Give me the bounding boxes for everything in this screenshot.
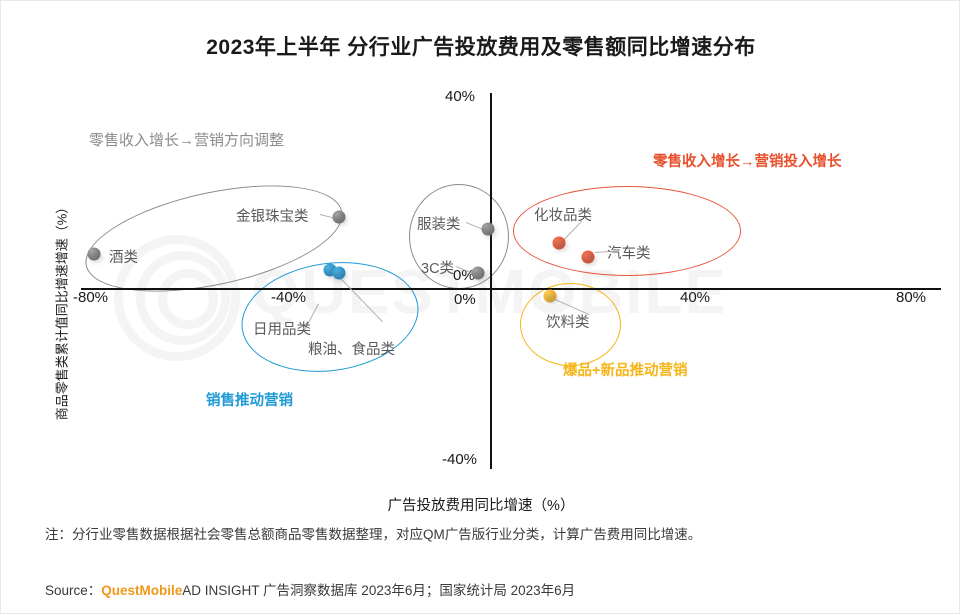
data-point-beverage[interactable] — [544, 290, 557, 303]
data-label-grain-food: 粮油、食品类 — [308, 338, 395, 359]
quadrant-caption-bottom-left: 销售推动营销 — [206, 389, 293, 410]
data-label-automobile: 汽车类 — [607, 242, 651, 263]
data-point-3c[interactable] — [472, 267, 485, 280]
data-point-liquor[interactable] — [88, 248, 101, 261]
data-point-automobile[interactable] — [582, 251, 595, 264]
source-prefix: Source： — [45, 583, 101, 598]
leader-line-cosmetic — [562, 221, 582, 242]
x-axis-line — [81, 288, 941, 290]
x-axis-title: 广告投放费用同比增速（%） — [1, 494, 960, 515]
data-point-grain-food[interactable] — [333, 267, 346, 280]
group-ellipse-marketing-growth — [513, 186, 741, 276]
x-tick-zero: 0% — [454, 291, 476, 308]
watermark: QUESTMOBILE — [106, 229, 906, 349]
data-label-jewelry: 金银珠宝类 — [236, 205, 309, 226]
source-brand: QuestMobile — [101, 583, 182, 598]
y-axis-line — [490, 93, 492, 469]
chart-page: 2023年上半年 分行业广告投放费用及零售额同比增速分布 QUESTMOBILE… — [0, 0, 960, 614]
group-ellipse-new-product — [520, 283, 621, 366]
page-title: 2023年上半年 分行业广告投放费用及零售额同比增速分布 — [1, 31, 960, 61]
group-ellipse-sales-driven — [234, 251, 425, 383]
quadrant-caption-bottom-right: 爆品+新品推动营销 — [563, 359, 687, 380]
data-label-beverage: 饮料类 — [546, 311, 590, 332]
leader-line-beverage — [553, 298, 590, 315]
y-tick-minus40: -40% — [442, 451, 477, 468]
leader-line-apparel — [466, 222, 485, 230]
leader-line-daily — [304, 304, 319, 331]
leader-line-jewelry — [320, 214, 342, 220]
x-tick-minus40: -40% — [271, 289, 306, 306]
watermark-ring-outer — [114, 235, 240, 361]
leader-line-3c — [456, 266, 475, 274]
x-tick-40: 40% — [680, 289, 710, 306]
x-tick-minus80: -80% — [73, 289, 108, 306]
group-ellipse-marketing-redirect — [76, 166, 352, 311]
source-line: Source：QuestMobileAD INSIGHT 广告洞察数据库 202… — [45, 579, 575, 599]
data-point-cosmetics[interactable] — [553, 237, 566, 250]
quadrant-caption-top-left: 零售收入增长→营销方向调整 — [89, 129, 284, 150]
data-label-3c: 3C类 — [421, 257, 454, 278]
watermark-ring-middle — [136, 251, 230, 345]
x-tick-80: 80% — [896, 289, 926, 306]
data-label-daily-goods: 日用品类 — [253, 318, 311, 339]
data-point-jewelry[interactable] — [333, 211, 346, 224]
data-point-apparel[interactable] — [482, 223, 495, 236]
y-tick-zero: 0% — [453, 267, 475, 284]
data-label-liquor: 酒类 — [109, 246, 138, 267]
data-label-apparel: 服装类 — [417, 213, 461, 234]
leader-line-grain — [339, 277, 383, 322]
y-axis-title: 商品零售类累计值同比增速增速（%） — [52, 161, 71, 461]
data-label-cosmetics: 化妆品类 — [534, 204, 592, 225]
data-point-daily-goods[interactable] — [324, 264, 337, 277]
leader-line-auto — [595, 251, 612, 253]
source-rest: AD INSIGHT 广告洞察数据库 2023年6月；国家统计局 2023年6月 — [182, 583, 575, 598]
group-ellipse-neutral — [409, 184, 509, 289]
footnote: 注：分行业零售数据根据社会零售总额商品零售数据整理，对应QM广告版行业分类，计算… — [45, 523, 701, 543]
quadrant-caption-top-right: 零售收入增长→营销投入增长 — [653, 150, 842, 171]
y-tick-40: 40% — [445, 88, 475, 105]
watermark-text: QUESTMOBILE — [251, 257, 728, 328]
watermark-ring-inner — [158, 269, 218, 329]
